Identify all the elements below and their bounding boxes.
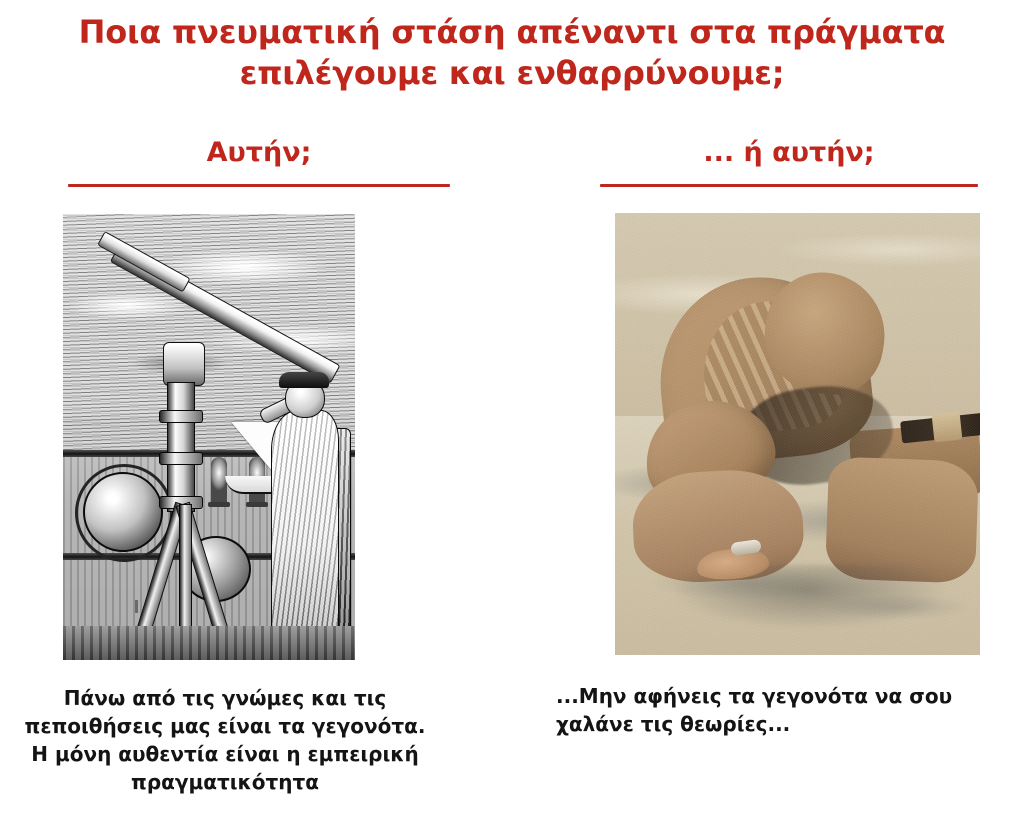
engraving-telescope-column [167, 382, 195, 512]
head-in-sand-image [615, 213, 980, 655]
left-caption-line-1: Πάνω από τις γνώμες και τις [10, 684, 440, 712]
left-subheading: Αυτήν; [68, 137, 450, 169]
engraving-observer-body [271, 410, 339, 658]
left-caption-line-4: πραγματικότητα [10, 768, 440, 796]
right-divider [600, 184, 978, 187]
photo-grain-overlay [615, 213, 980, 655]
engraving-canvas [63, 214, 355, 660]
left-caption-line-2: πεποιθήσεις μας είναι τα γεγονότα. [10, 712, 440, 740]
page-title-line-2: επιλέγουμε και ενθαρρύνουμε; [0, 53, 1024, 94]
engraving-column-collar [159, 452, 203, 465]
engraving-blue-marker [135, 600, 138, 613]
slide-canvas: Ποια πνευματική στάση απέναντι στα πράγμ… [0, 0, 1024, 816]
left-divider [68, 184, 450, 187]
engraving-column-collar [159, 410, 203, 423]
right-caption-line-1: ...Μην αφήνεις τα γεγονότα να σου [556, 682, 996, 710]
astronomer-engraving-image [63, 214, 355, 660]
engraving-telescope-mount [163, 342, 205, 386]
engraving-floor [63, 626, 355, 660]
engraving-globe [83, 472, 163, 552]
engraving-observer-hat [279, 372, 329, 388]
right-caption: ...Μην αφήνεις τα γεγονότα να σου χαλάνε… [556, 682, 996, 738]
right-subheading: ... ή αυτήν; [600, 137, 978, 169]
left-caption: Πάνω από τις γνώμες και τις πεποιθήσεις … [10, 684, 440, 796]
page-title: Ποια πνευματική στάση απέναντι στα πράγμ… [0, 12, 1024, 94]
left-caption-line-3: Η μόνη αυθεντία είναι η εμπειρική [10, 740, 440, 768]
page-title-line-1: Ποια πνευματική στάση απέναντι στα πράγμ… [0, 12, 1024, 53]
photo-canvas [615, 213, 980, 655]
right-caption-line-2: χαλάνε τις θεωρίες... [556, 710, 996, 738]
